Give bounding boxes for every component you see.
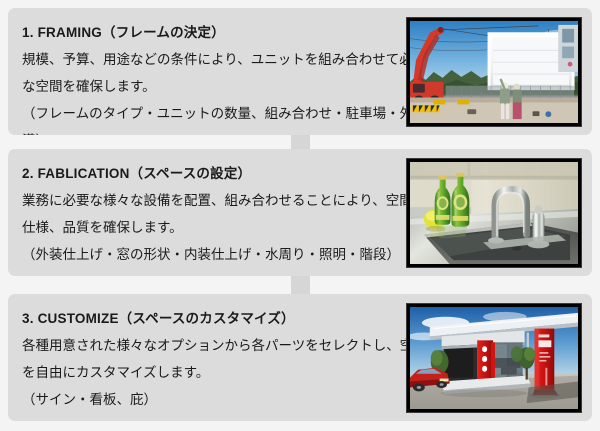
store-exterior-rendering-photo: [406, 303, 582, 413]
step-panel-fablication: 2. FABLICATION（スペースの設定） 業務に必要な様々な設備を配置、組…: [8, 149, 592, 276]
process-steps-diagram: 1. FRAMING（フレームの決定） 規模、予算、用途などの条件により、ユニッ…: [0, 0, 600, 431]
step-panel-customize: 3. CUSTOMIZE（スペースのカスタマイズ） 各種用意された様々なオプショ…: [8, 294, 592, 421]
step-title-customize: 3. CUSTOMIZE（スペースのカスタマイズ）: [22, 305, 394, 332]
kitchen-photo-illustration: [410, 162, 578, 264]
step-body-line: 仕様、品質を確保します。: [22, 214, 394, 241]
photo-inner: [410, 307, 578, 409]
crane-photo-illustration: [410, 21, 578, 123]
photo-inner: [410, 21, 578, 123]
connector-step2-step3: [291, 276, 310, 294]
step-body-line: （サイン・看板、庇）: [22, 386, 394, 413]
kitchen-sink-faucet-photo: [406, 158, 582, 268]
step-text-customize: 3. CUSTOMIZE（スペースのカスタマイズ） 各種用意された様々なオプショ…: [22, 305, 394, 413]
step-body-line: 規模、予算、用途などの条件により、ユニットを組み合わせて必要: [22, 46, 394, 73]
step-body-line: （外装仕上げ・窓の形状・内装仕上げ・水周り・照明・階段）: [22, 241, 394, 268]
step-body-line: を自由にカスタマイズします。: [22, 359, 394, 386]
step-panel-framing: 1. FRAMING（フレームの決定） 規模、予算、用途などの条件により、ユニッ…: [8, 8, 592, 135]
step-text-framing: 1. FRAMING（フレームの決定） 規模、予算、用途などの条件により、ユニッ…: [22, 19, 394, 135]
step-body-line: 業務に必要な様々な設備を配置、組み合わせることにより、空間の: [22, 187, 394, 214]
step-body-line: 各種用意された様々なオプションから各パーツをセレクトし、空間: [22, 332, 394, 359]
step-text-fablication: 2. FABLICATION（スペースの設定） 業務に必要な様々な設備を配置、組…: [22, 160, 394, 268]
photo-inner: [410, 162, 578, 264]
step-title-fablication: 2. FABLICATION（スペースの設定）: [22, 160, 394, 187]
step-title-framing: 1. FRAMING（フレームの決定）: [22, 19, 394, 46]
crane-lifting-unit-photo: [406, 17, 582, 127]
step-body-line: 溝）: [22, 127, 394, 135]
store-rendering-illustration: [410, 307, 578, 409]
step-body-line: （フレームのタイプ・ユニットの数量、組み合わせ・駐車場・外: [22, 100, 394, 127]
step-body-line: な空間を確保します。: [22, 73, 394, 100]
